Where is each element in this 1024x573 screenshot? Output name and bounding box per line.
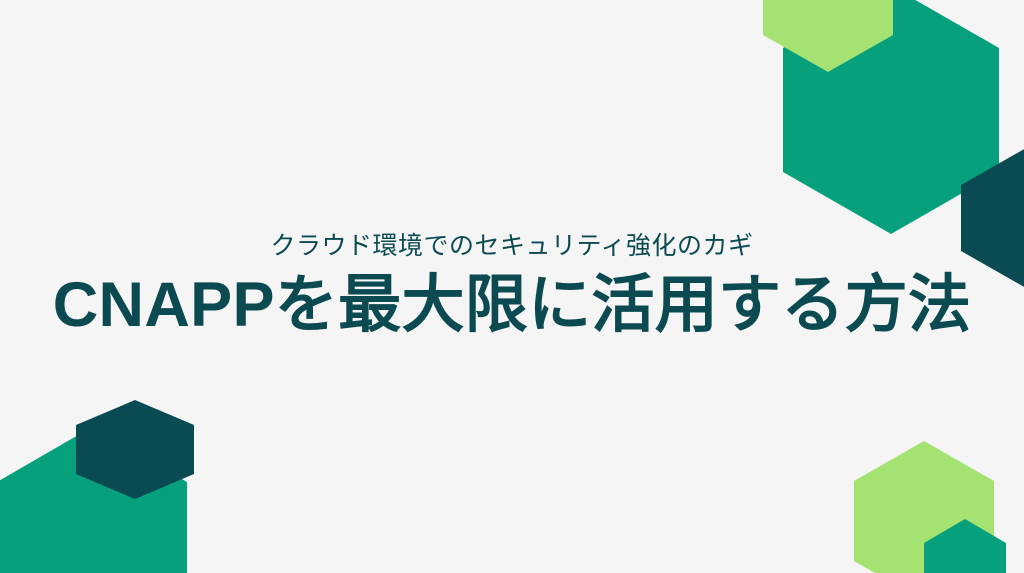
- presentation-slide: クラウド環境でのセキュリティ強化のカギ CNAPPを最大限に活用する方法: [0, 0, 1024, 573]
- title-block: クラウド環境でのセキュリティ強化のカギ CNAPPを最大限に活用する方法: [0, 0, 1024, 573]
- slide-title: CNAPPを最大限に活用する方法: [53, 269, 972, 341]
- slide-subtitle: クラウド環境でのセキュリティ強化のカギ: [270, 231, 753, 262]
